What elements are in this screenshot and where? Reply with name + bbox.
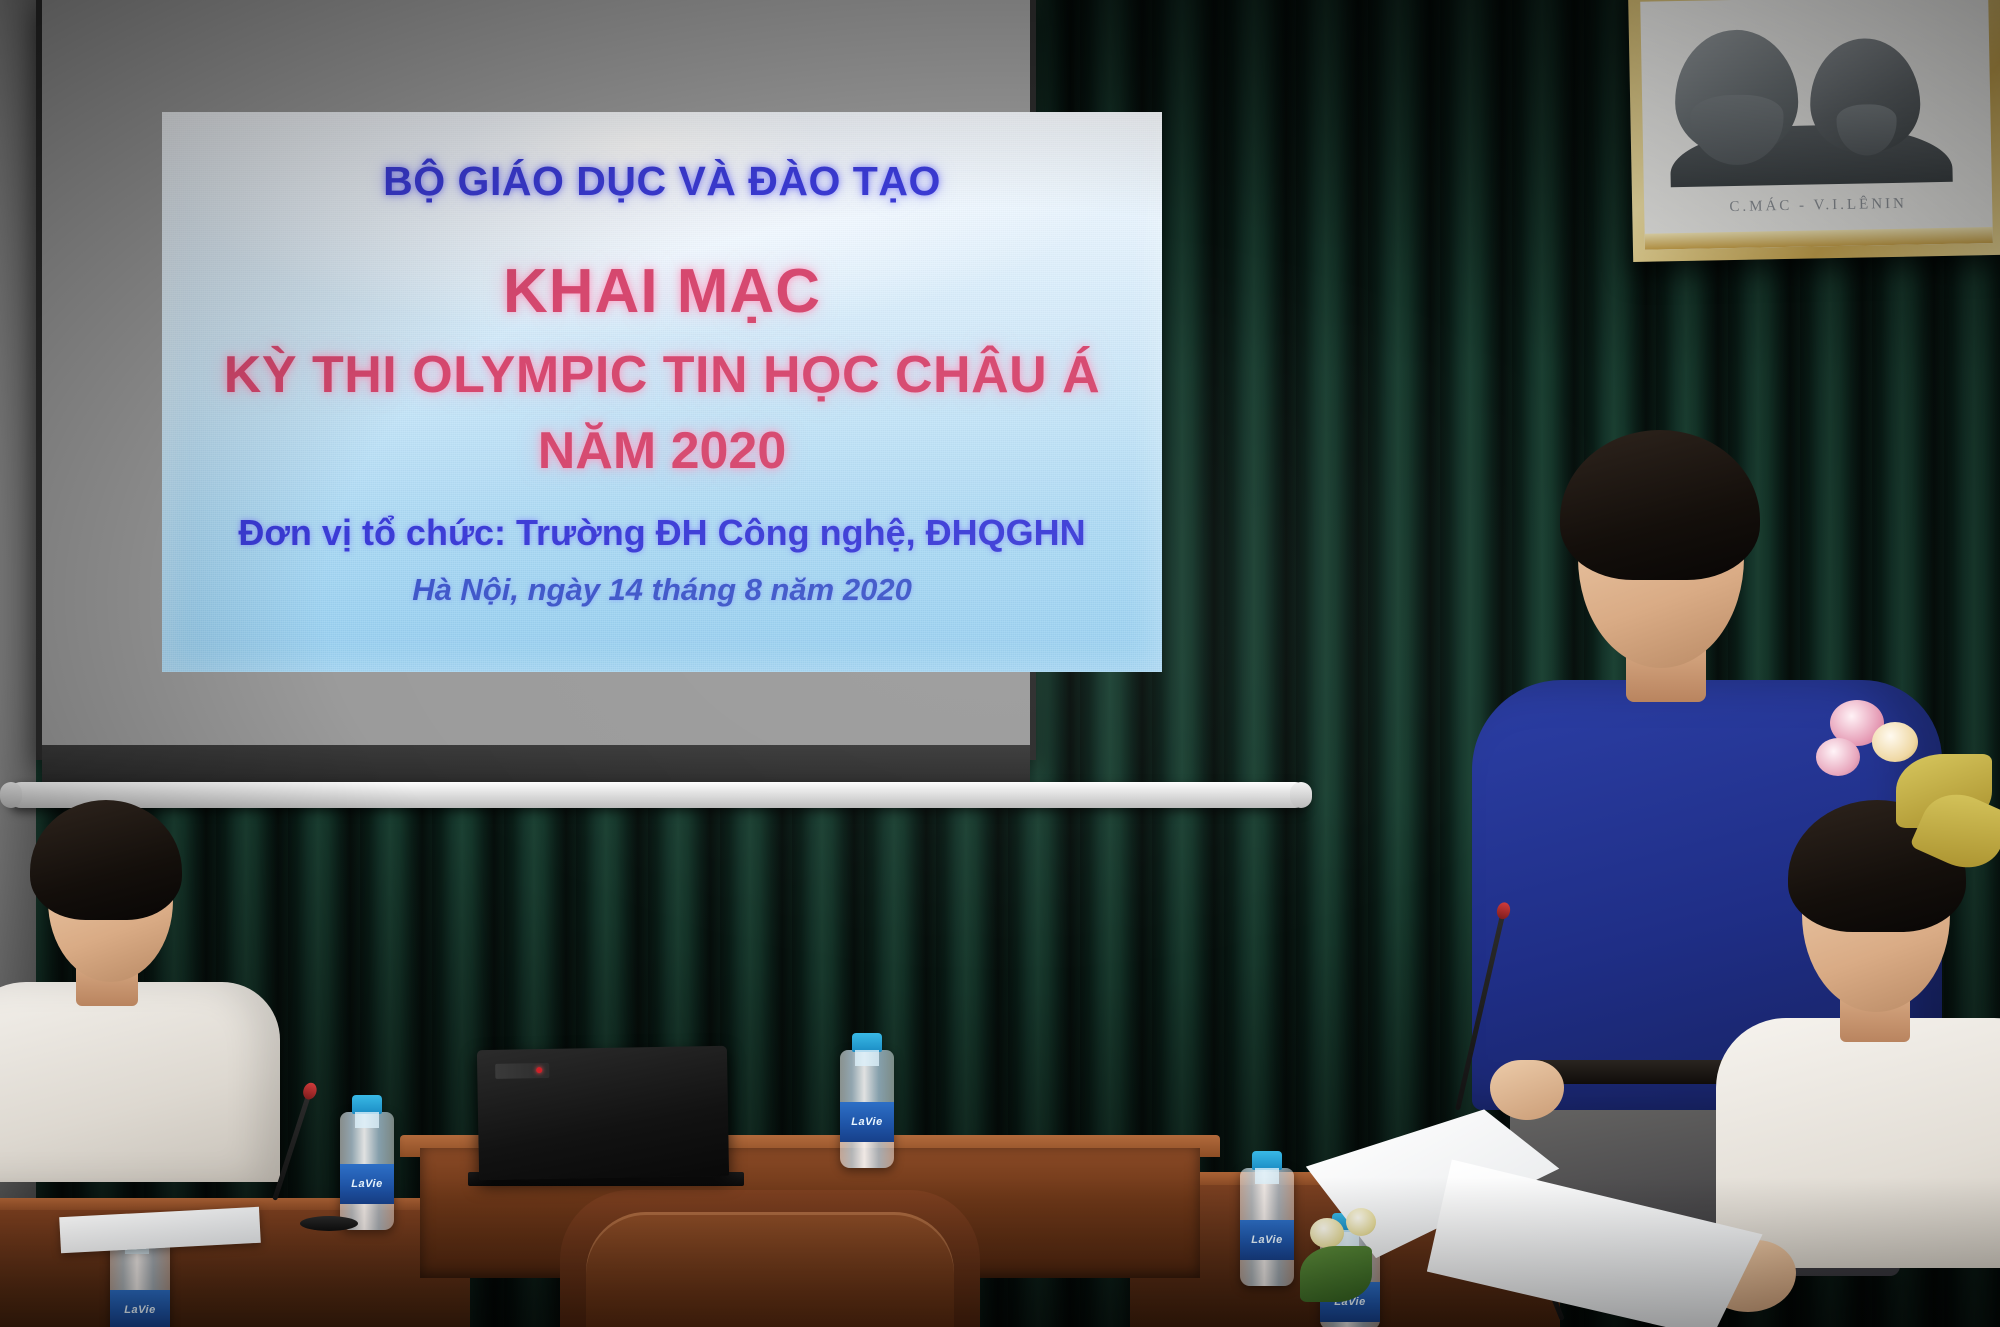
flower-arrangement (1810, 700, 2000, 880)
bottle-label-text: LaVie (351, 1178, 382, 1190)
water-bottle: LaVie (1240, 1168, 1294, 1286)
table-podium-panel (586, 1212, 954, 1327)
flower-blossom (1816, 738, 1860, 776)
bottle-label-text: LaVie (124, 1304, 155, 1316)
flower-blossom (1346, 1208, 1376, 1236)
bottle-neck (1255, 1168, 1279, 1184)
water-bottle: LaVie (110, 1238, 170, 1327)
bottle-label-text: LaVie (1251, 1234, 1282, 1246)
left-man-hair (30, 800, 182, 920)
bottle-label: LaVie (340, 1164, 394, 1204)
bottle-neck (855, 1050, 879, 1066)
microphone-base (300, 1216, 358, 1231)
bottle-neck (355, 1112, 379, 1128)
bottle-label: LaVie (1240, 1220, 1294, 1260)
bottle-label: LaVie (110, 1290, 170, 1327)
water-bottle: LaVie (340, 1112, 394, 1230)
thinkpad-laptop (477, 1046, 729, 1180)
water-bottle: LaVie (840, 1050, 894, 1168)
flower-arrangement-front (1300, 1208, 1450, 1327)
right-man-shirt (1716, 1018, 2000, 1268)
flower-blossom (1310, 1218, 1344, 1248)
speaker-hair (1560, 430, 1760, 580)
seated-man-left (0, 800, 290, 1180)
flower-blossom (1872, 722, 1918, 762)
left-man-shirt (0, 982, 280, 1182)
bottle-label-text: LaVie (851, 1116, 882, 1128)
flower-leaf (1300, 1246, 1372, 1302)
thinkpad-logo-icon (495, 1063, 549, 1079)
bottle-label: LaVie (840, 1102, 894, 1142)
photo-scene: BỘ GIÁO DỤC VÀ ĐÀO TẠO KHAI MẠC KỲ THI O… (0, 0, 2000, 1327)
thinkpad-logo-dot (536, 1067, 542, 1073)
